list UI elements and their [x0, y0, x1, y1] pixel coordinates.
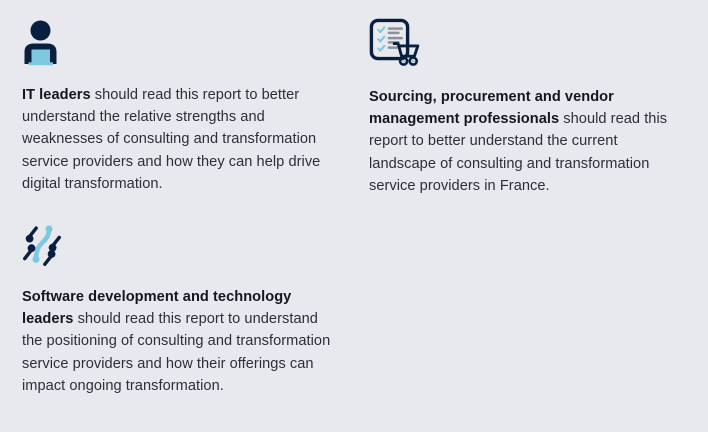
audience-description-sourcing-procurement: Sourcing, procurement and vendor managem… — [369, 86, 685, 197]
circuit-network-nodes-icon — [22, 222, 338, 268]
audience-callout-panel: IT leaders should read this report to be… — [0, 0, 708, 432]
audience-description-software-development: Software development and technology lead… — [22, 286, 338, 397]
audience-block-software-development: Software development and technology lead… — [22, 222, 338, 397]
audience-lead-it-leaders: IT leaders — [22, 87, 91, 103]
person-at-laptop-icon — [22, 18, 336, 66]
audience-description-it-leaders: IT leaders should read this report to be… — [22, 84, 336, 195]
clipboard-shopping-cart-icon — [369, 18, 685, 66]
audience-block-sourcing-procurement: Sourcing, procurement and vendor managem… — [369, 18, 685, 197]
audience-block-it-leaders: IT leaders should read this report to be… — [22, 18, 336, 195]
